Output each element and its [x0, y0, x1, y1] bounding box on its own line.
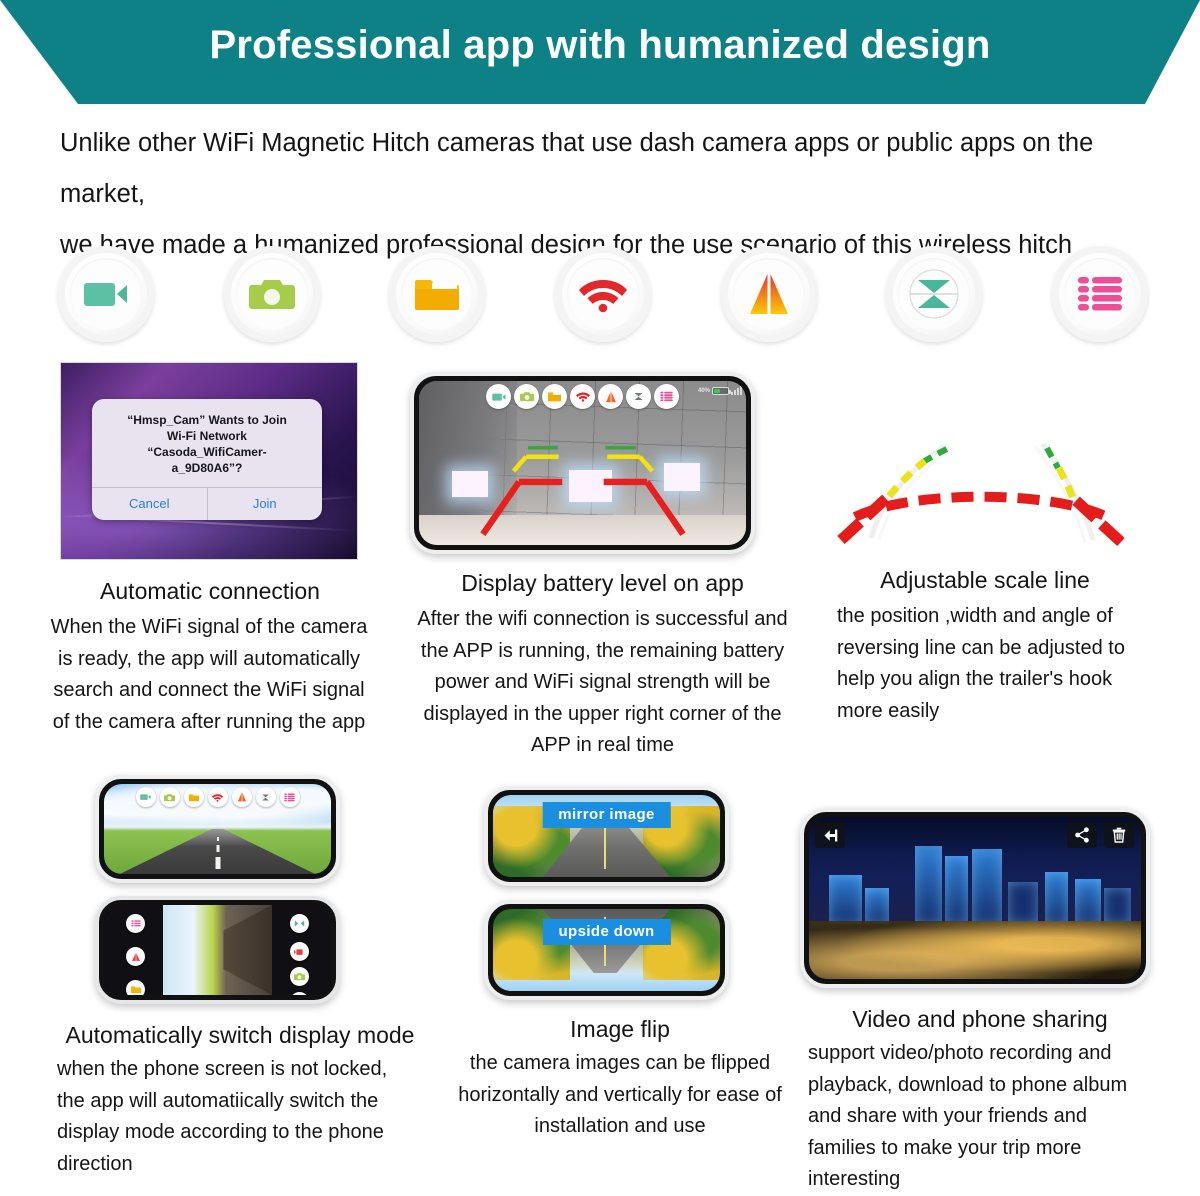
camera-photo-icon — [520, 391, 534, 402]
overlay-icon-folder-album[interactable] — [542, 384, 567, 409]
wifi-dialog-line-1: “Hmsp_Cam” Wants to Join — [102, 412, 312, 428]
phone-camera-preview: 40% — [410, 372, 795, 554]
phone-screen-rotated — [104, 905, 331, 995]
header-banner: Professional app with humanized design — [0, 0, 1200, 104]
wifi-signal-icon — [212, 793, 223, 802]
icon-inner-disc — [401, 258, 473, 330]
delete-button[interactable] — [1104, 822, 1134, 848]
city-night-photo — [809, 817, 1141, 979]
building — [829, 875, 862, 924]
rotated-mode-view — [104, 905, 331, 995]
image-flip-icon — [294, 919, 305, 928]
building — [865, 888, 888, 924]
overlay-icon-image-flip[interactable] — [256, 787, 276, 807]
card-battery-level: 40% Display battery level on app After t… — [410, 372, 795, 762]
cancel-button[interactable]: Cancel — [92, 488, 208, 520]
card-title-battery-level: Display battery level on app — [410, 568, 795, 598]
rotated-preview-image — [163, 905, 272, 995]
lane-dash — [216, 845, 219, 852]
rot-button-image-flip[interactable] — [290, 914, 309, 933]
camera-live-view: 40% — [419, 381, 746, 545]
overlay-icon-scale-line[interactable] — [598, 384, 623, 409]
camera-photo-icon — [294, 972, 305, 981]
overlay-icon-menu-settings[interactable] — [280, 787, 300, 807]
battery-icon — [712, 387, 729, 395]
icon-button-folder-album[interactable] — [389, 246, 485, 342]
overlay-icon-wifi-signal[interactable] — [208, 787, 228, 807]
wedge-shape — [163, 905, 272, 995]
folder-album-icon — [189, 793, 199, 802]
overlay-icon-video-record[interactable] — [136, 787, 156, 807]
signal-strength-icon — [731, 386, 742, 395]
image-flip-icon — [260, 792, 271, 803]
overlay-icon-image-flip[interactable] — [626, 384, 651, 409]
icon-inner-disc — [898, 258, 970, 330]
menu-settings-icon — [1077, 275, 1123, 313]
video-record-icon — [294, 948, 305, 956]
phone-screen-upside-down: upside down — [493, 909, 720, 991]
icon-inner-disc — [1064, 258, 1136, 330]
building — [945, 856, 968, 924]
folder-album-icon — [548, 391, 561, 402]
card-video-phone-sharing: Video and phone sharing support video/ph… — [800, 808, 1160, 1196]
app-toolbar-overlay — [104, 787, 331, 807]
mirror-image-label: mirror image — [542, 802, 671, 828]
card-title-video-phone-sharing: Video and phone sharing — [800, 1004, 1160, 1034]
menu-settings-icon — [284, 793, 295, 802]
phone-frame-landscape — [95, 775, 340, 883]
card-title-adjustable-scale-line: Adjustable scale line — [815, 565, 1155, 595]
icon-button-scale-line[interactable] — [721, 246, 817, 342]
overlay-icon-video-record[interactable] — [486, 384, 511, 409]
phone-screen-mirror: mirror image — [493, 795, 720, 877]
road-preview — [104, 784, 331, 874]
wifi-dialog-screenshot: “Hmsp_Cam” Wants to Join Wi-Fi Network “… — [60, 362, 360, 560]
menu-settings-icon — [660, 391, 673, 402]
wifi-dialog-actions: Cancel Join — [92, 487, 322, 520]
rot-button-folder-album[interactable] — [126, 980, 145, 995]
highway-light-trails — [809, 921, 1141, 979]
battery-percent-label: 40% — [698, 388, 710, 394]
phone-screen-road — [104, 784, 331, 874]
wifi-signal-icon — [576, 391, 590, 402]
building — [972, 849, 1002, 924]
scale-line-illustration — [815, 410, 1155, 555]
rot-button-scale-line[interactable] — [126, 947, 145, 966]
video-record-icon — [140, 793, 151, 801]
icon-inner-disc — [70, 258, 142, 330]
upside-down-label: upside down — [542, 919, 670, 945]
feature-icon-row — [58, 240, 1148, 348]
status-indicators: 40% — [698, 386, 742, 395]
wifi-dialog-line-2: Wi-Fi Network — [102, 428, 312, 444]
icon-inner-disc — [236, 258, 308, 330]
icon-button-image-flip[interactable] — [886, 246, 982, 342]
card-auto-switch-display-mode: Automatically switch display mode when t… — [45, 775, 435, 1180]
scale-line-icon — [131, 952, 141, 962]
mirror-image-preview: mirror image — [493, 795, 720, 877]
left-control-column — [104, 905, 163, 995]
wifi-dialog-message: “Hmsp_Cam” Wants to Join Wi-Fi Network “… — [92, 399, 322, 487]
icon-button-video-record[interactable] — [58, 246, 154, 342]
page-title: Professional app with humanized design — [0, 0, 1200, 104]
video-record-icon — [492, 392, 506, 402]
overlay-icon-wifi-signal[interactable] — [570, 384, 595, 409]
share-icon — [1074, 827, 1090, 843]
scale-line-icon — [237, 792, 247, 802]
camera-photo-icon — [164, 793, 175, 802]
folder-album-icon — [415, 276, 459, 312]
card-body-battery-level: After the wifi connection is successful … — [410, 604, 795, 762]
card-adjustable-scale-line: Adjustable scale line the position ,widt… — [815, 410, 1155, 727]
phone-screen-playback — [809, 817, 1141, 979]
card-body-automatic-connection: When the WiFi signal of the camera is re… — [44, 612, 374, 738]
image-flip-icon — [908, 269, 960, 319]
wifi-dialog-line-4: a_9D80A6”? — [102, 460, 312, 476]
card-automatic-connection: “Hmsp_Cam” Wants to Join Wi-Fi Network “… — [60, 362, 360, 738]
join-button[interactable]: Join — [208, 488, 323, 520]
card-title-auto-switch-display-mode: Automatically switch display mode — [45, 1020, 435, 1050]
lane-dash — [215, 857, 220, 869]
building — [1104, 888, 1131, 924]
rot-button-camera-photo[interactable] — [290, 967, 309, 986]
overlay-icon-folder-album[interactable] — [184, 787, 204, 807]
image-flip-icon — [632, 390, 645, 403]
wifi-join-dialog: “Hmsp_Cam” Wants to Join Wi-Fi Network “… — [92, 399, 322, 520]
icon-inner-disc — [733, 258, 805, 330]
overlay-icon-scale-line[interactable] — [232, 787, 252, 807]
wifi-signal-icon — [579, 275, 627, 313]
video-record-icon — [83, 278, 129, 310]
phone-frame-rotated — [95, 896, 340, 1004]
phone-frame-upside-down: upside down — [484, 900, 729, 1000]
card-title-image-flip: Image flip — [450, 1014, 790, 1044]
menu-settings-icon — [131, 920, 141, 928]
card-body-image-flip: the camera images can be flipped horizon… — [450, 1048, 790, 1143]
share-button[interactable] — [1067, 822, 1097, 848]
phone-frame-mirror: mirror image — [484, 786, 729, 886]
intro-line-1: Unlike other WiFi Magnetic Hitch cameras… — [60, 118, 1150, 220]
rot-button-video-record[interactable] — [290, 942, 309, 961]
back-arrow-icon — [822, 828, 839, 843]
back-button[interactable] — [815, 822, 845, 848]
phone-frame: 40% — [410, 372, 755, 554]
reversing-guide-graphic — [815, 410, 1145, 550]
overlay-icon-camera-photo[interactable] — [160, 787, 180, 807]
phone-frame-playback — [800, 808, 1150, 988]
wifi-dialog-line-3: “Casoda_WifiCamer- — [102, 444, 312, 460]
right-control-column — [272, 905, 331, 995]
rot-button-menu-settings[interactable] — [126, 914, 145, 933]
card-body-video-phone-sharing: support video/photo recording and playba… — [808, 1038, 1158, 1196]
card-image-flip: mirror image upside down Image flip the … — [450, 786, 790, 1143]
card-title-automatic-connection: Automatic connection — [60, 576, 360, 606]
building — [1045, 872, 1068, 924]
scale-line-icon — [746, 272, 792, 316]
icon-inner-disc — [567, 258, 639, 330]
overlay-icon-camera-photo[interactable] — [514, 384, 539, 409]
app-toolbar-overlay — [419, 384, 746, 409]
building — [1008, 882, 1038, 924]
building — [1075, 879, 1102, 924]
phone-screen: 40% — [419, 381, 746, 545]
rot-button-wifi-signal[interactable] — [290, 992, 309, 995]
icon-button-camera-photo[interactable] — [224, 246, 320, 342]
building — [915, 846, 942, 924]
camera-photo-icon — [249, 276, 295, 312]
card-body-adjustable-scale-line: the position ,width and angle of reversi… — [837, 601, 1157, 727]
card-body-auto-switch-display-mode: when the phone screen is not locked, the… — [57, 1054, 407, 1180]
scale-line-icon — [605, 391, 617, 403]
icon-button-wifi-signal[interactable] — [555, 246, 651, 342]
folder-album-icon — [131, 985, 141, 994]
icon-button-menu-settings[interactable] — [1052, 246, 1148, 342]
trash-icon — [1112, 827, 1126, 843]
overlay-icon-menu-settings[interactable] — [654, 384, 679, 409]
lane-dash — [217, 837, 219, 841]
